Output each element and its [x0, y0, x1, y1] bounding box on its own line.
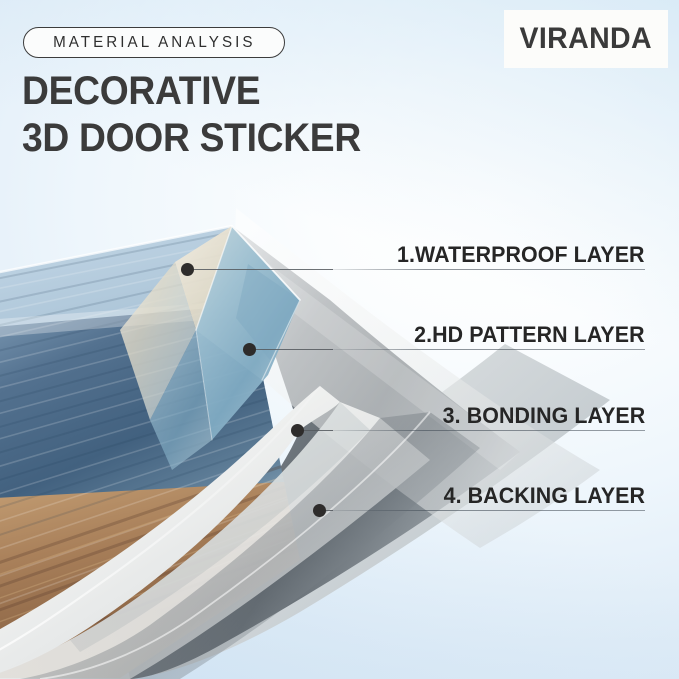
- waterproof-film-facet-a: [175, 226, 300, 380]
- bonding-layer-wedge: [120, 226, 520, 679]
- page-title-line-1: DECORATIVE: [22, 68, 450, 115]
- label-rule-4: [330, 510, 645, 511]
- eyebrow-badge: MATERIAL ANALYSIS: [23, 27, 285, 58]
- callout-label-backing-layer: 4. BACKING LAYER: [444, 483, 645, 509]
- callout-dot-3: [291, 424, 304, 437]
- backing-curl-sheet: [0, 402, 430, 679]
- page-title: DECORATIVE 3D DOOR STICKER: [22, 68, 450, 162]
- label-rule-1: [330, 269, 645, 270]
- backing-curl-underside: [20, 412, 480, 679]
- callout-label-hd-pattern-layer: 2.HD PATTERN LAYER: [414, 322, 645, 348]
- leader-line-1: [188, 269, 333, 270]
- callout-dot-2: [243, 343, 256, 356]
- waterproof-film-facet-b: [120, 262, 196, 420]
- callout-label-waterproof-layer: 1.WATERPROOF LAYER: [397, 242, 645, 268]
- backing-layer-sheet: [0, 344, 610, 679]
- poster-canvas: MATERIAL ANALYSIS DECORATIVE 3D DOOR STI…: [0, 0, 679, 679]
- backing-curl-upper-edge: [0, 386, 340, 679]
- callout-label-bonding-layer: 3. BONDING LAYER: [442, 403, 645, 429]
- label-rule-2: [330, 349, 645, 350]
- curl-highlight-edge-2: [40, 412, 430, 679]
- hd-pattern-layer-facet: [196, 226, 300, 440]
- label-rule-3: [330, 430, 645, 431]
- printed-photo-face: [0, 180, 334, 679]
- curl-contact-shadow: [70, 402, 370, 652]
- callout-dot-4: [313, 504, 326, 517]
- page-title-line-2: 3D DOOR STICKER: [22, 115, 450, 162]
- brand-logo: VIRANDA: [504, 10, 668, 68]
- eyebrow-label: MATERIAL ANALYSIS: [53, 34, 255, 52]
- fold-edges: [196, 226, 300, 440]
- curl-drop-shadow: [30, 470, 420, 679]
- hd-pattern-layer-facet-b: [150, 330, 212, 470]
- wedge-sheen: [240, 250, 520, 470]
- curl-highlight-edge: [0, 386, 320, 660]
- leader-line-2: [250, 349, 333, 350]
- brand-name: VIRANDA: [520, 22, 653, 56]
- callout-dot-1: [181, 263, 194, 276]
